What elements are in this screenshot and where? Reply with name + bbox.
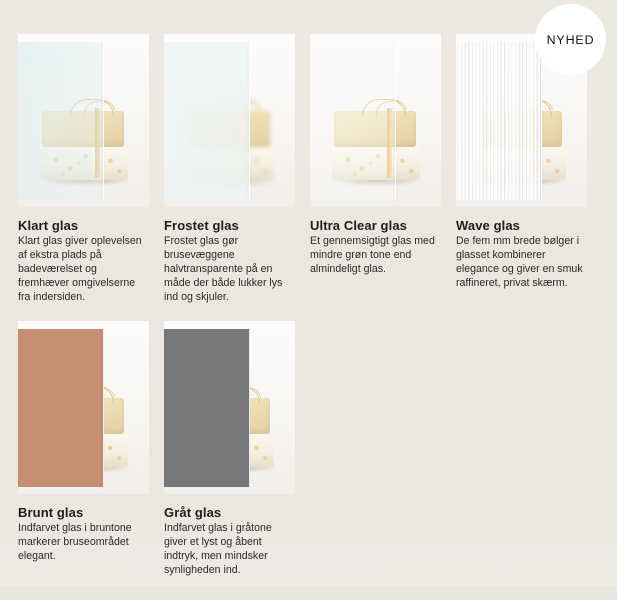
soap-bar-bottom [478,146,566,180]
glass-type-row-top: Klart glas Klart glas giver oplevelsen a… [18,34,599,304]
nyhed-badge-label: NYHED [547,33,595,47]
soap-band [95,108,100,178]
product-image-graat-glas [164,321,295,494]
soap-bar-bottom [40,146,128,180]
soap-stack-illustration [40,393,128,467]
glass-card-description: Klart glas giver oplevelsen af ekstra pl… [18,234,146,304]
glass-card-description: De fem mm brede bølger i glasset kombine… [456,234,584,290]
glass-card-klart-glas[interactable]: Klart glas Klart glas giver oplevelsen a… [18,34,149,304]
product-image-klart-glas [18,34,149,207]
soap-stack-illustration [186,106,274,180]
soap-band [95,395,100,465]
soap-band [241,395,246,465]
glass-type-row-bottom: Brunt glas Indfarvet glas i bruntone mar… [18,321,599,577]
soap-stack-illustration [332,106,420,180]
soap-band [533,108,538,178]
soap-band [241,108,246,178]
glass-types-page: Klart glas Klart glas giver oplevelsen a… [0,0,617,600]
soap-stack-illustration [40,106,128,180]
glass-card-frostet-glas[interactable]: Frostet glas Frostet glas gør brusevægge… [164,34,295,304]
glass-card-description: Indfarvet glas i bruntone markerer bruse… [18,521,146,563]
glass-card-title: Gråt glas [164,505,295,520]
soap-bar-bottom [186,433,274,467]
product-image-ultra-clear-glas [310,34,441,207]
glass-card-title: Klart glas [18,218,149,233]
glass-card-title: Brunt glas [18,505,149,520]
product-image-frostet-glas [164,34,295,207]
soap-bar-bottom [40,433,128,467]
glass-card-brunt-glas[interactable]: Brunt glas Indfarvet glas i bruntone mar… [18,321,149,577]
soap-band [387,108,392,178]
glass-card-description: Indfarvet glas i gråtone giver et lyst o… [164,521,292,577]
glass-card-description: Frostet glas gør brusevæggene halvtransp… [164,234,292,304]
glass-card-title: Wave glas [456,218,587,233]
glass-type-grid: Klart glas Klart glas giver oplevelsen a… [18,34,599,577]
glass-card-title: Frostet glas [164,218,295,233]
soap-bar-bottom [186,146,274,180]
glass-card-title: Ultra Clear glas [310,218,441,233]
glass-card-ultra-clear-glas[interactable]: Ultra Clear glas Et gennemsigtigt glas m… [310,34,441,304]
soap-stack-illustration [478,106,566,180]
product-image-brunt-glas [18,321,149,494]
soap-stack-illustration [186,393,274,467]
nyhed-badge[interactable]: NYHED [535,4,606,75]
glass-card-description: Et gennemsigtigt glas med mindre grøn to… [310,234,438,276]
soap-bar-bottom [332,146,420,180]
glass-card-graat-glas[interactable]: Gråt glas Indfarvet glas i gråtone giver… [164,321,295,577]
